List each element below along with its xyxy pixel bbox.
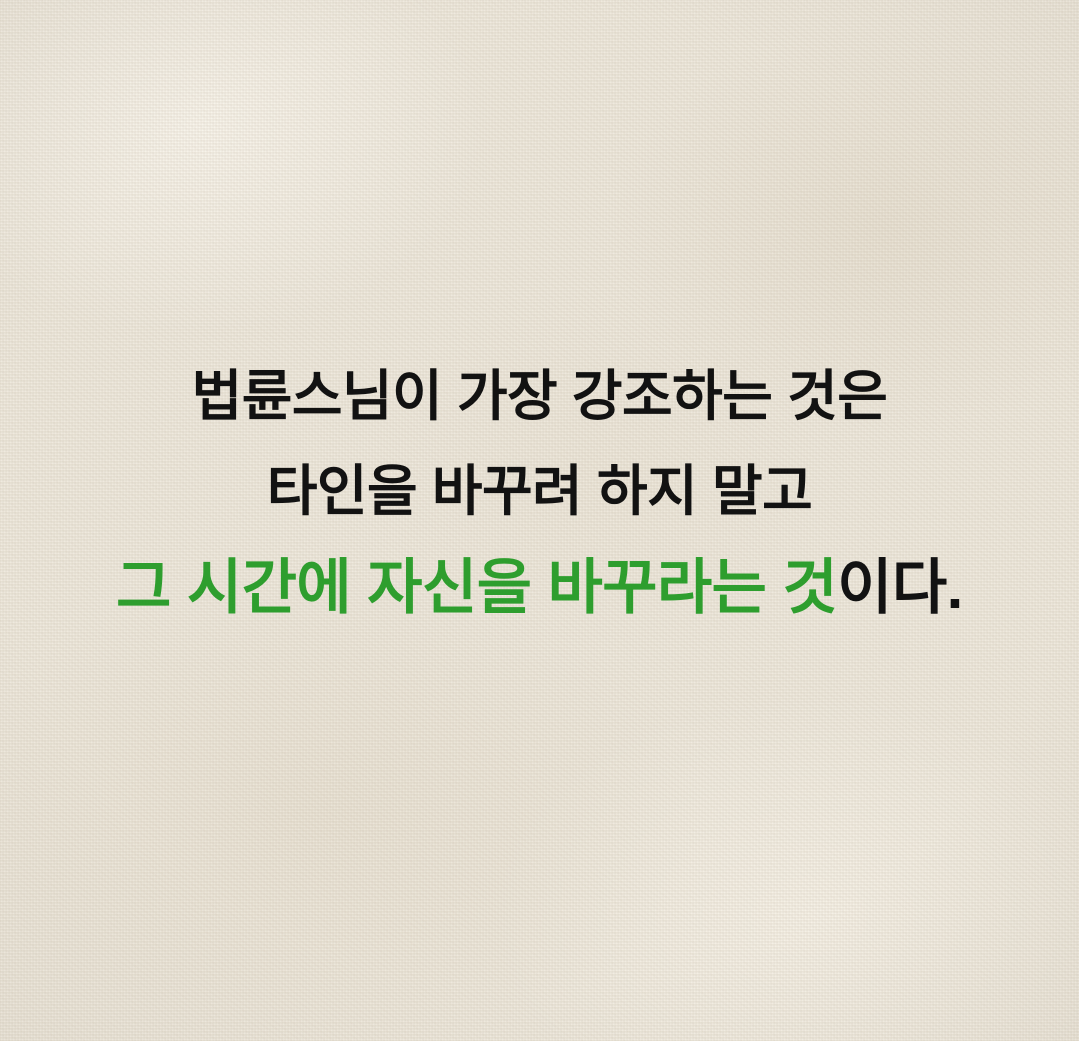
quote-line-2: 타인을 바꾸려 하지 말고	[24, 461, 1055, 523]
quote-line-3: 그 시간에 자신을 바꾸라는 것이다.	[24, 554, 1055, 621]
quote-line-3-tail: 이다.	[837, 554, 963, 621]
quote-card: 법륜스님이 가장 강조하는 것은 타인을 바꾸려 하지 말고 그 시간에 자신을…	[0, 0, 1079, 1041]
quote-line-3-highlight: 그 시간에 자신을 바꾸라는 것	[116, 554, 837, 621]
quote-text-block: 법륜스님이 가장 강조하는 것은 타인을 바꾸려 하지 말고 그 시간에 자신을…	[0, 366, 1079, 621]
quote-line-1: 법륜스님이 가장 강조하는 것은	[24, 366, 1055, 428]
